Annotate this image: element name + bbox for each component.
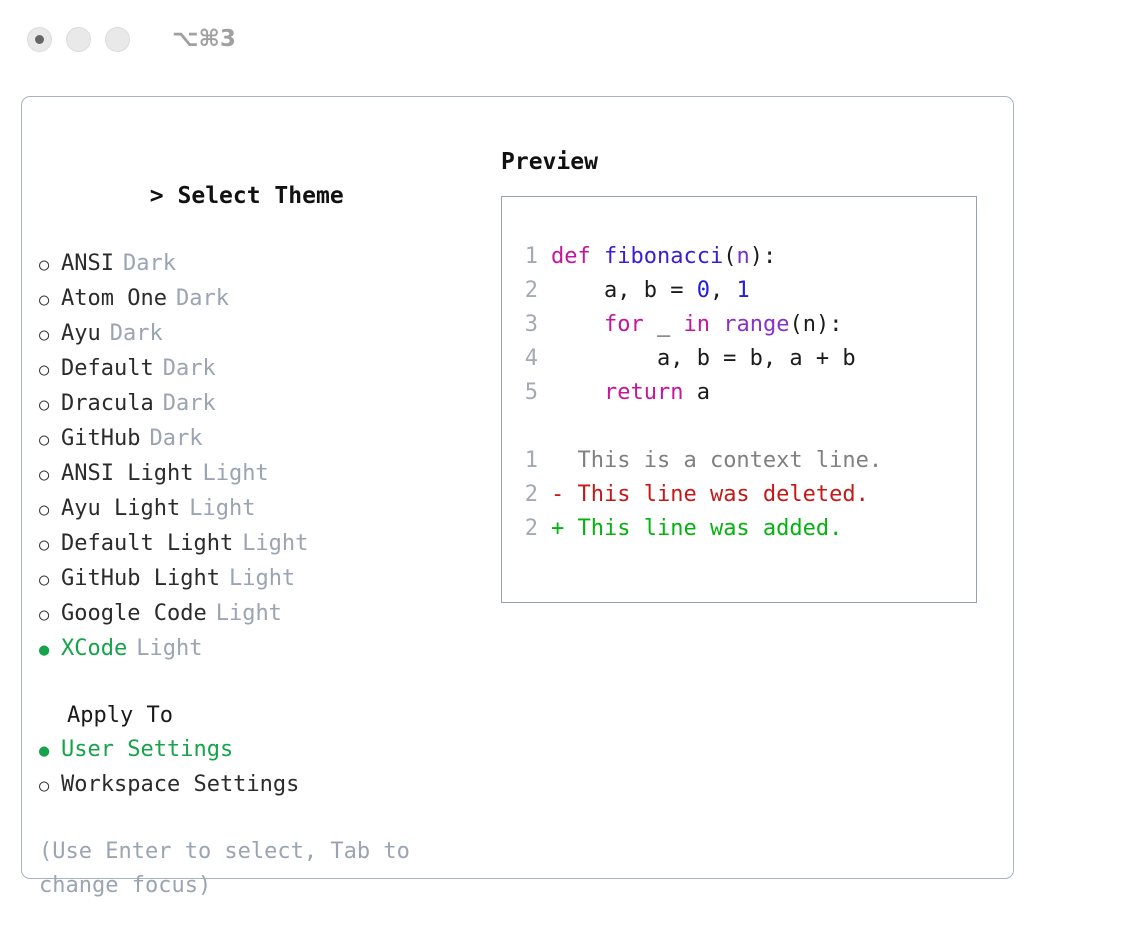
radio-unselected-icon: ○ [39, 283, 61, 317]
theme-option-xcode[interactable]: ●XCodeLight [39, 632, 494, 667]
theme-option-kind: Light [242, 527, 308, 561]
radio-unselected-icon: ○ [39, 353, 61, 387]
radio-unselected-icon: ○ [39, 388, 61, 422]
radio-unselected-icon: ○ [39, 598, 61, 632]
apply-to-section: Apply To ●User Settings○Workspace Settin… [39, 699, 494, 803]
theme-option-atom-one[interactable]: ○Atom OneDark [39, 282, 494, 317]
code-line: 2 a, b = 0, 1 [516, 274, 968, 308]
radio-unselected-icon: ○ [39, 493, 61, 527]
window-dot-3[interactable] [105, 27, 130, 52]
diff-line-text: - This line was deleted. [551, 478, 869, 512]
radio-selected-icon: ● [39, 734, 61, 768]
diff-line-number: 2 [516, 478, 538, 512]
radio-unselected-icon: ○ [39, 423, 61, 457]
code-token-plain [710, 312, 723, 337]
theme-option-name: Ayu Light [61, 492, 180, 526]
preview-box: 1def fibonacci(n):2 a, b = 0, 13 for _ i… [501, 196, 977, 603]
radio-unselected-icon: ○ [39, 318, 61, 352]
theme-option-github[interactable]: ○GitHubDark [39, 422, 494, 457]
code-line-text: def fibonacci(n): [551, 240, 776, 274]
window-dot-active-inner [35, 35, 44, 44]
theme-option-default-light[interactable]: ○Default LightLight [39, 527, 494, 562]
theme-option-dracula[interactable]: ○DraculaDark [39, 387, 494, 422]
code-token-kw: return [604, 380, 683, 405]
select-theme-heading: > Select Theme [39, 145, 494, 247]
prompt-caret-icon: > [150, 183, 164, 209]
theme-option-kind: Light [136, 632, 202, 666]
diff-line-add: 2+ This line was added. [516, 512, 968, 546]
window-controls [27, 27, 130, 52]
code-token-param: n [736, 244, 749, 269]
radio-unselected-icon: ○ [39, 248, 61, 282]
diff-text: This line was deleted. [564, 482, 869, 507]
theme-option-kind: Light [189, 492, 255, 526]
window-titlebar: ⌥⌘3 [0, 0, 1140, 78]
theme-option-name: Dracula [61, 387, 154, 421]
theme-option-kind: Light [229, 562, 295, 596]
theme-option-kind: Dark [123, 247, 176, 281]
diff-text: This is a context line. [564, 448, 882, 473]
radio-unselected-icon: ○ [39, 769, 61, 803]
theme-option-kind: Dark [149, 422, 202, 456]
theme-option-google-code[interactable]: ○Google CodeLight [39, 597, 494, 632]
code-line: 1def fibonacci(n): [516, 240, 968, 274]
apply-to-option-user-settings[interactable]: ●User Settings [39, 733, 494, 768]
diff-marker [551, 448, 564, 473]
window-dot-2[interactable] [66, 27, 91, 52]
code-token-plain [551, 380, 604, 405]
code-token-kw: def [551, 244, 591, 269]
code-token-plain [591, 244, 604, 269]
theme-option-ansi[interactable]: ○ANSIDark [39, 247, 494, 282]
radio-unselected-icon: ○ [39, 458, 61, 492]
apply-to-option-workspace-settings[interactable]: ○Workspace Settings [39, 768, 494, 803]
code-token-plain: a, b = [551, 278, 697, 303]
code-token-plain: (n): [789, 312, 842, 337]
theme-option-github-light[interactable]: ○GitHub LightLight [39, 562, 494, 597]
code-token-plain: a, b = b, a + b [551, 346, 856, 371]
theme-option-kind: Light [202, 457, 268, 491]
theme-option-name: ANSI [61, 247, 114, 281]
code-token-num: 0 [697, 278, 710, 303]
diff-line-number: 2 [516, 512, 538, 546]
theme-option-name: ANSI Light [61, 457, 193, 491]
preview-heading: Preview [501, 145, 991, 179]
code-blank-line [516, 410, 968, 444]
code-line-text: for _ in range(n): [551, 308, 842, 342]
theme-option-name: Atom One [61, 282, 167, 316]
window-dot-active[interactable] [27, 27, 52, 52]
code-line-text: return a [551, 376, 710, 410]
theme-option-ayu[interactable]: ○AyuDark [39, 317, 494, 352]
code-line-number: 3 [516, 308, 538, 342]
theme-option-name: GitHub [61, 422, 140, 456]
code-token-fn: fibonacci [604, 244, 723, 269]
panel-body: > Select Theme ○ANSIDark○Atom OneDark○Ay… [22, 97, 1013, 878]
keyboard-shortcut-label: ⌥⌘3 [172, 26, 236, 52]
radio-unselected-icon: ○ [39, 563, 61, 597]
apply-to-option-list: ●User Settings○Workspace Settings [39, 733, 494, 803]
theme-option-kind: Dark [176, 282, 229, 316]
diff-line-ctx: 1 This is a context line. [516, 444, 968, 478]
theme-option-ayu-light[interactable]: ○Ayu LightLight [39, 492, 494, 527]
diff-line-text: This is a context line. [551, 444, 882, 478]
apply-to-option-label: User Settings [61, 733, 233, 767]
theme-option-kind: Dark [110, 317, 163, 351]
select-theme-heading-label: Select Theme [178, 183, 344, 209]
theme-option-name: Google Code [61, 597, 207, 631]
theme-option-name: Default Light [61, 527, 233, 561]
theme-option-kind: Light [216, 597, 282, 631]
theme-option-name: Ayu [61, 317, 101, 351]
code-token-plain: a [683, 380, 710, 405]
theme-option-list: ○ANSIDark○Atom OneDark○AyuDark○DefaultDa… [39, 247, 494, 667]
code-token-plain: , [710, 278, 737, 303]
preview-code-area: 1def fibonacci(n):2 a, b = 0, 13 for _ i… [516, 240, 968, 546]
diff-marker: - [551, 482, 564, 507]
theme-selector-panel: > Select Theme ○ANSIDark○Atom OneDark○Ay… [21, 96, 1014, 879]
code-line-number: 5 [516, 376, 538, 410]
code-token-plain: _ [644, 312, 684, 337]
theme-option-name: GitHub Light [61, 562, 220, 596]
code-line: 3 for _ in range(n): [516, 308, 968, 342]
apply-to-option-label: Workspace Settings [61, 768, 299, 802]
diff-line-text: + This line was added. [551, 512, 842, 546]
code-line-number: 4 [516, 342, 538, 376]
radio-unselected-icon: ○ [39, 528, 61, 562]
code-token-builtin: range [723, 312, 789, 337]
code-line: 5 return a [516, 376, 968, 410]
keyboard-hint-text: (Use Enter to select, Tab to change focu… [39, 835, 439, 903]
code-token-kw: for [604, 312, 644, 337]
code-line: 4 a, b = b, a + b [516, 342, 968, 376]
code-line-number: 1 [516, 240, 538, 274]
theme-option-default[interactable]: ○DefaultDark [39, 352, 494, 387]
code-token-kw: in [683, 312, 710, 337]
theme-list-column: > Select Theme ○ANSIDark○Atom OneDark○Ay… [39, 145, 494, 903]
diff-line-number: 1 [516, 444, 538, 478]
code-token-plain: ): [750, 244, 777, 269]
code-line-text: a, b = 0, 1 [551, 274, 750, 308]
diff-line-del: 2- This line was deleted. [516, 478, 968, 512]
code-token-plain [551, 312, 604, 337]
diff-marker: + [551, 516, 564, 541]
diff-text: This line was added. [564, 516, 842, 541]
theme-option-kind: Dark [163, 387, 216, 421]
theme-option-ansi-light[interactable]: ○ANSI LightLight [39, 457, 494, 492]
code-line-text: a, b = b, a + b [551, 342, 856, 376]
theme-option-name: Default [61, 352, 154, 386]
code-line-number: 2 [516, 274, 538, 308]
preview-column: Preview 1def fibonacci(n):2 a, b = 0, 13… [501, 145, 991, 603]
apply-to-heading: Apply To [39, 699, 494, 733]
theme-option-kind: Dark [163, 352, 216, 386]
code-token-plain: ( [723, 244, 736, 269]
theme-option-name: XCode [61, 632, 127, 666]
code-token-num: 1 [736, 278, 749, 303]
radio-selected-icon: ● [39, 633, 61, 667]
